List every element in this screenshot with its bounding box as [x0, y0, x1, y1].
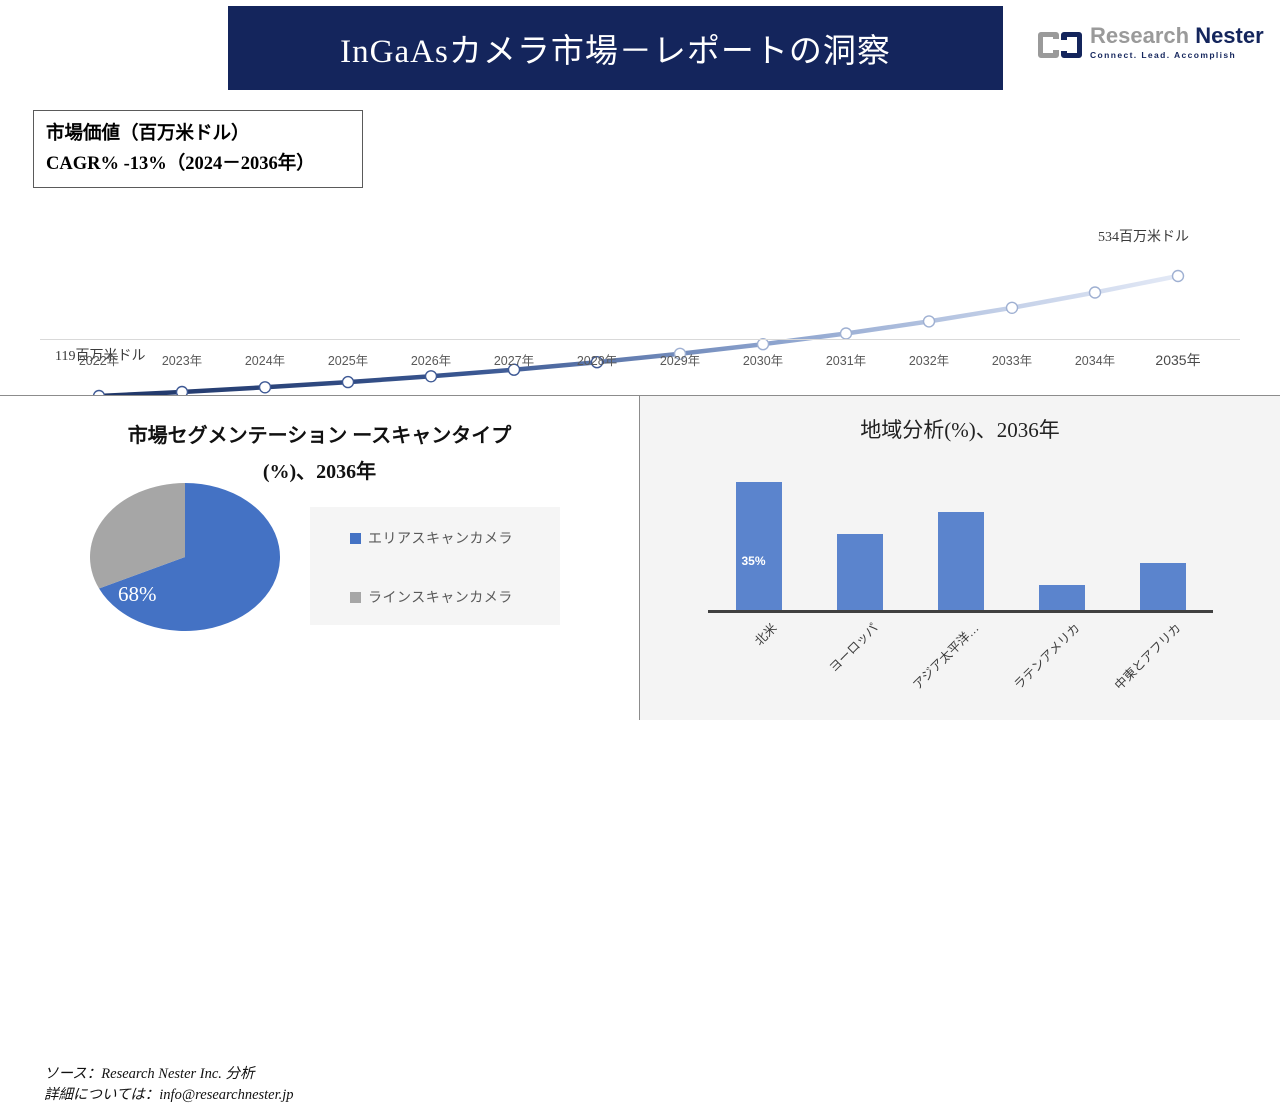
- line-chart-marker: [841, 328, 852, 339]
- line-chart-marker: [260, 382, 271, 393]
- pie-slice-label-primary: 68%: [118, 582, 157, 607]
- line-chart-x-label: 2024年: [245, 350, 285, 369]
- bar-chart-x-label: 北米: [749, 618, 780, 649]
- line-chart-x-label: 2032年: [909, 350, 949, 369]
- pie-chart-legend: エリアスキャンカメラ ラインスキャンカメラ: [310, 507, 560, 625]
- source-note: ソース：Research Nester Inc. 分析 詳細については：info…: [44, 1064, 294, 1106]
- brand-logo: Research Nester Connect. Lead. Accomplis…: [1038, 24, 1250, 72]
- line-chart-x-label: 2026年: [411, 350, 451, 369]
- bar-chart-baseline: [708, 610, 1213, 613]
- legend-swatch-area-scan: [350, 533, 361, 544]
- pie-chart-title-line1: 市場セグメンテーション ースキャンタイプ: [128, 425, 512, 447]
- line-chart-x-label: 2034年: [1075, 350, 1115, 369]
- bar[interactable]: [938, 512, 984, 611]
- line-chart-marker: [1007, 302, 1018, 313]
- segmentation-pie-panel: 市場セグメンテーション ースキャンタイプ (%)、2036年 68% エリアスキ…: [0, 396, 639, 720]
- bar[interactable]: [736, 482, 782, 611]
- legend-swatch-line-scan: [350, 592, 361, 603]
- line-chart-x-label: 2030年: [743, 350, 783, 369]
- pie-chart-title: 市場セグメンテーション ースキャンタイプ (%)、2036年: [0, 418, 639, 490]
- line-chart-marker: [1173, 271, 1184, 282]
- line-chart-x-label: 2025年: [328, 350, 368, 369]
- line-chart-marker: [1090, 287, 1101, 298]
- regional-bar-panel: 地域分析(%)、2036年 35% 北米ヨーロッパアジア太平洋…ラテンアメリカ中…: [640, 396, 1280, 720]
- pie-chart-svg: [90, 483, 280, 631]
- page-title: InGaAsカメラ市場－レポートの洞察: [340, 24, 891, 72]
- bar[interactable]: [1140, 563, 1186, 611]
- legend-item-area-scan[interactable]: エリアスキャンカメラ: [350, 528, 513, 548]
- line-chart-marker: [177, 387, 188, 396]
- legend-item-line-scan[interactable]: ラインスキャンカメラ: [350, 587, 513, 607]
- bar[interactable]: [837, 534, 883, 611]
- market-value-line-chart: 市場価値（百万米ドル） CAGR% -13%（2024－2036年） 119百万…: [0, 95, 1280, 395]
- line-chart-x-label: 2023年: [162, 350, 202, 369]
- legend-label-area-scan: エリアスキャンカメラ: [368, 528, 513, 548]
- bar-chart-x-label: 中東とアフリカ: [1109, 618, 1184, 693]
- source-line-2: 詳細については：info@researchnester.jp: [44, 1085, 294, 1106]
- title-banner: InGaAsカメラ市場－レポートの洞察: [228, 6, 1003, 90]
- slide-canvas: InGaAsカメラ市場－レポートの洞察 Research Nester Conn…: [0, 0, 1280, 720]
- pie-chart-graphic: [90, 483, 280, 631]
- brand-logo-text: Research Nester Connect. Lead. Accomplis…: [1090, 24, 1250, 60]
- line-chart-x-label: 2033年: [992, 350, 1032, 369]
- bar-chart-plot: 35%: [708, 471, 1213, 611]
- line-chart-x-label: 2027年: [494, 350, 534, 369]
- brand-name-research: Research: [1090, 23, 1195, 48]
- line-chart-x-label: 2028年: [577, 350, 617, 369]
- line-chart-x-label: 2035年: [1155, 350, 1200, 370]
- chain-link-logo-icon: [1038, 28, 1082, 62]
- source-line-1: ソース：Research Nester Inc. 分析: [44, 1064, 294, 1085]
- line-chart-x-label: 2031年: [826, 350, 866, 369]
- legend-label-line-scan: ラインスキャンカメラ: [368, 587, 513, 607]
- line-chart-marker: [758, 339, 769, 350]
- bar[interactable]: [1039, 585, 1085, 611]
- line-chart-x-labels: 2022年2023年2024年2025年2026年2027年2028年2029年…: [0, 350, 1280, 380]
- bar-chart-x-label: ラテンアメリカ: [1008, 618, 1083, 693]
- line-chart-marker: [924, 316, 935, 327]
- line-chart-x-axis: [40, 339, 1240, 340]
- brand-tagline: Connect. Lead. Accomplish: [1090, 50, 1250, 60]
- line-chart-x-label: 2029年: [660, 350, 700, 369]
- bar-chart-x-label: ヨーロッパ: [823, 618, 881, 676]
- bar-chart-x-label: アジア太平洋…: [907, 618, 982, 693]
- line-chart-x-label: 2022年: [79, 350, 119, 369]
- bar-data-label: 35%: [742, 554, 766, 568]
- brand-name: Research Nester: [1090, 24, 1250, 48]
- brand-name-nester: Nester: [1195, 23, 1263, 48]
- header: InGaAsカメラ市場－レポートの洞察 Research Nester Conn…: [0, 0, 1280, 95]
- bar-chart-title: 地域分析(%)、2036年: [640, 414, 1280, 444]
